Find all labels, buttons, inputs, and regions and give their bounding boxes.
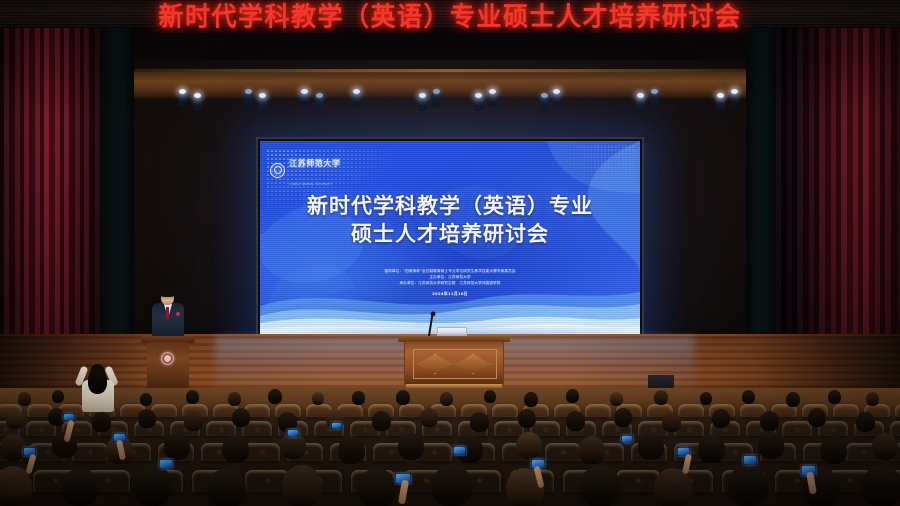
audience-head (820, 436, 847, 464)
audience-head (484, 390, 496, 403)
stage-light-icon (488, 92, 497, 107)
audience-head (524, 392, 538, 407)
seated-audience (0, 388, 900, 506)
audience-head (132, 464, 172, 506)
seat (244, 443, 280, 461)
phone-screen (160, 460, 172, 468)
lectern-diamond-motif (417, 354, 493, 374)
audience-head (566, 389, 579, 403)
audience-head (18, 392, 31, 406)
audience-head (578, 436, 605, 464)
stage-light-icon (716, 96, 725, 111)
audience-head (872, 433, 898, 460)
stage-light-icon (650, 92, 659, 107)
lectern-body (404, 341, 504, 385)
stage-light-icon (300, 92, 309, 107)
seat (678, 404, 704, 417)
stage-light-icon (193, 96, 202, 111)
stage-light-icon (178, 92, 187, 107)
slide-date: 2024年11月16日 (260, 291, 640, 297)
audience-head (62, 468, 98, 506)
audience-phone (158, 458, 174, 470)
center-lectern (404, 336, 504, 390)
audience-head (856, 412, 875, 432)
stage-light-icon (315, 96, 324, 111)
audience-head (208, 468, 246, 506)
audience-head (654, 390, 668, 405)
university-logo: 江苏师范大学 JIANGSU NORMAL UNIVERSITY (270, 151, 341, 189)
stage-light-icon (552, 92, 561, 107)
audience-head (232, 408, 250, 427)
audience-head (580, 465, 620, 506)
audience-head (614, 408, 632, 427)
slide-surface: 江苏师范大学 JIANGSU NORMAL UNIVERSITY 新时代学科教学… (260, 141, 640, 334)
audience-head (866, 392, 879, 406)
university-seal-icon (270, 163, 285, 178)
phone-screen (288, 430, 298, 436)
slide-title-line-2: 硕士人才培养研讨会 (260, 221, 640, 249)
audience-head (828, 390, 841, 404)
stage-light-icon (730, 92, 739, 107)
audience-head (610, 392, 623, 406)
phone-screen (744, 456, 756, 464)
audience-head (358, 468, 396, 506)
audience-head (760, 411, 779, 431)
stage-light-icon (418, 96, 427, 111)
audience-head (470, 412, 489, 432)
presenter-hair (160, 289, 175, 297)
seat (895, 404, 900, 417)
stage-light-icon (352, 92, 361, 107)
audience-head (228, 392, 241, 406)
seat (833, 404, 859, 417)
audience-phone (620, 434, 634, 444)
audience-head (338, 436, 365, 464)
audience-head (282, 465, 322, 506)
photographer-hair (88, 370, 107, 394)
audience-phone (330, 421, 343, 430)
organizer-line: 承办单位：江苏师范大学研究生院 江苏师范大学外国语学院 (260, 280, 640, 286)
audience-head (638, 433, 664, 460)
audience-head (662, 412, 681, 432)
audience-head (138, 409, 156, 428)
audience-head (698, 435, 725, 463)
led-presentation-screen: 江苏师范大学 JIANGSU NORMAL UNIVERSITY 新时代学科教学… (256, 137, 644, 338)
stage-light-icon (636, 96, 645, 111)
audience-head (268, 389, 282, 404)
phone-screen (332, 423, 341, 428)
audience-head (372, 411, 391, 431)
seat (545, 443, 581, 461)
audience-head (786, 392, 800, 407)
podium-emblem-icon (161, 352, 174, 365)
seat (492, 404, 518, 417)
audience-head (186, 390, 199, 404)
audience-head (184, 411, 203, 431)
audience-head (712, 409, 730, 428)
stage-light-icon (474, 96, 483, 111)
audience-head (92, 412, 111, 432)
seat (206, 421, 236, 436)
audience-head (396, 390, 410, 405)
presenter-boutonniere (176, 312, 180, 316)
seat (585, 404, 611, 417)
standing-photographer (74, 356, 120, 410)
seat (782, 421, 812, 436)
audience-head (758, 432, 784, 459)
lectern-diamond (417, 354, 453, 374)
audience-head (742, 390, 755, 404)
audience-head (566, 411, 585, 431)
audience-head (516, 432, 542, 459)
auditorium-scene: 新时代学科教学（英语）专业硕士人才培养研讨会 (0, 0, 900, 506)
audience-head (432, 464, 472, 506)
audience-head (862, 465, 900, 506)
audience-head (352, 391, 365, 405)
stage-light-icon (244, 92, 253, 107)
seat (72, 443, 108, 461)
audience-head (52, 390, 64, 403)
audience-head (6, 410, 24, 429)
university-name-cn: 江苏师范大学 (289, 159, 341, 168)
audience-head (440, 392, 453, 406)
slide-organizer-block: 指导单位：“田家炳杯”全日制教育硕士专业学位研究生教学技能大赛专家委员会 主办单… (260, 268, 640, 297)
audience-head (728, 464, 768, 506)
led-banner-text: 新时代学科教学（英语）专业硕士人才培养研讨会 (158, 3, 741, 29)
audience-head (808, 408, 826, 427)
phone-screen (64, 414, 74, 420)
audience-phone (286, 428, 300, 438)
presenter-tie (166, 307, 169, 319)
lectern-diamond (455, 354, 491, 374)
presenter-at-podium (148, 290, 188, 342)
audience-head (700, 392, 712, 405)
audience-head (222, 435, 249, 463)
audience-phone (452, 445, 467, 456)
audience-phone (742, 454, 758, 466)
overhead-lighting-truss (110, 72, 790, 98)
phone-screen (454, 447, 465, 454)
audience-head (518, 409, 536, 428)
audience-head (140, 393, 152, 406)
audience-head (420, 408, 438, 427)
stage-light-icon (432, 92, 441, 107)
slide-title-line-1: 新时代学科教学（英语）专业 (260, 193, 640, 221)
audience-head (164, 433, 190, 460)
stage-light-icon (258, 96, 267, 111)
audience-head (312, 392, 324, 405)
audience-head (398, 433, 424, 460)
stage-light-icon (540, 96, 549, 111)
slide-title-block: 新时代学科教学（英语）专业 硕士人才培养研讨会 (260, 193, 640, 249)
phone-screen (622, 436, 632, 442)
university-name-en: JIANGSU NORMAL UNIVERSITY (289, 183, 333, 186)
seat (890, 421, 900, 436)
